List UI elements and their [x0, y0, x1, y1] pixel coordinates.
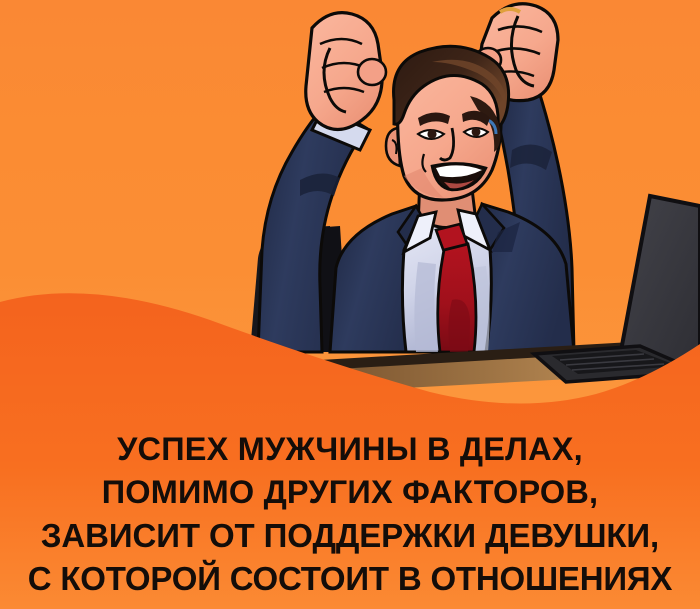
laptop-lid — [620, 196, 700, 368]
left-fist — [306, 13, 386, 130]
meme-poster: УСПЕХ МУЖЧИНЫ В ДЕЛАХ, ПОМИМО ДРУГИХ ФАК… — [0, 0, 700, 609]
head — [386, 46, 509, 200]
shirt-shadow — [414, 262, 438, 352]
illustration-scene — [0, 0, 700, 609]
